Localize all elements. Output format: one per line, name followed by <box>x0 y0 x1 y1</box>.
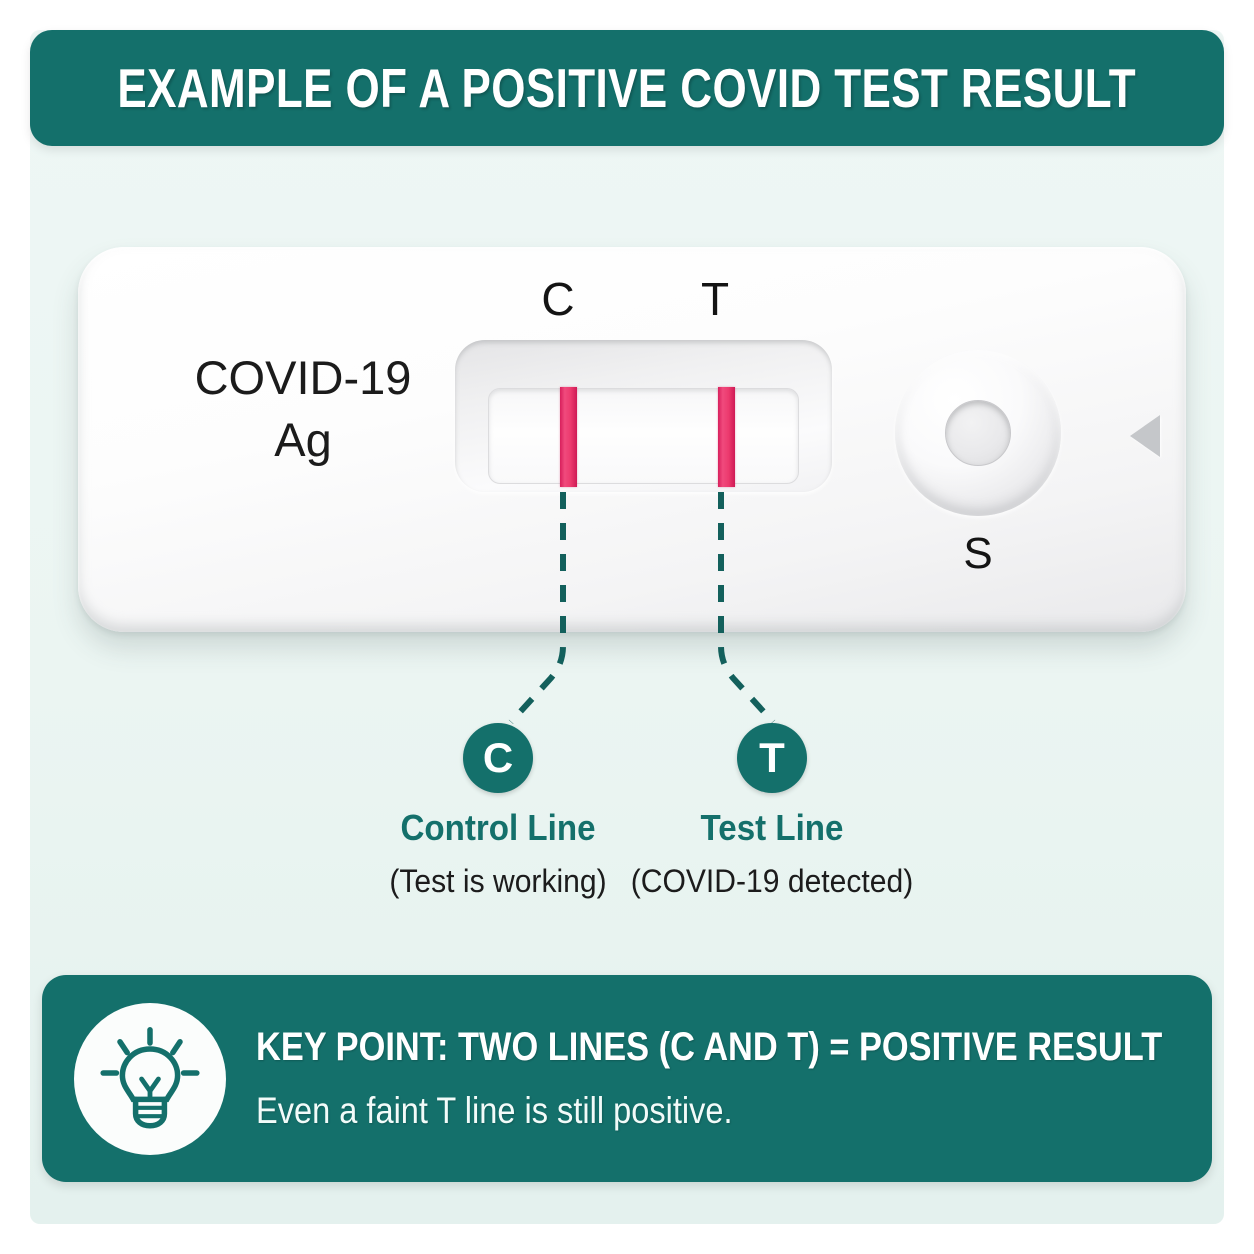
legend-badge-test: T <box>737 723 807 793</box>
legend-item-test: Test Line (COVID-19 detected) <box>562 808 982 899</box>
test-tick-label: T <box>685 276 745 322</box>
lightbulb-glyph <box>90 1019 210 1139</box>
key-point-headline: KEY POINT: TWO LINES (C AND T) = POSITIV… <box>256 1025 1162 1069</box>
result-window-bezel <box>455 340 832 492</box>
infographic-page: EXAMPLE OF A POSITIVE COVID TEST RESULT … <box>0 0 1254 1254</box>
key-point-text-block: KEY POINT: TWO LINES (C AND T) = POSITIV… <box>256 1025 1254 1132</box>
sample-well-label: S <box>895 532 1061 576</box>
key-point-subline: Even a faint T line is still positive. <box>256 1091 1183 1132</box>
key-point-banner: KEY POINT: TWO LINES (C AND T) = POSITIV… <box>42 975 1212 1182</box>
header-banner: EXAMPLE OF A POSITIVE COVID TEST RESULT <box>30 30 1224 146</box>
page-title: EXAMPLE OF A POSITIVE COVID TEST RESULT <box>118 61 1137 116</box>
brand-line-1: COVID-19 <box>195 351 412 404</box>
test-line-band <box>718 387 735 487</box>
lightbulb-icon <box>74 1003 226 1155</box>
legend-test-subtitle: (COVID-19 detected) <box>575 864 970 899</box>
test-cassette: COVID-19 Ag C T S <box>78 247 1186 632</box>
brand-line-2: Ag <box>138 409 468 471</box>
legend-badge-control: C <box>463 723 533 793</box>
sample-well <box>895 350 1061 516</box>
left-triangle-icon <box>1130 415 1160 457</box>
legend-test-title: Test Line <box>579 808 965 848</box>
cassette-brand-label: COVID-19 Ag <box>138 347 468 471</box>
result-window <box>488 388 799 484</box>
sample-well-hole <box>945 400 1011 466</box>
control-tick-label: C <box>528 276 588 322</box>
control-line-band <box>560 387 577 487</box>
